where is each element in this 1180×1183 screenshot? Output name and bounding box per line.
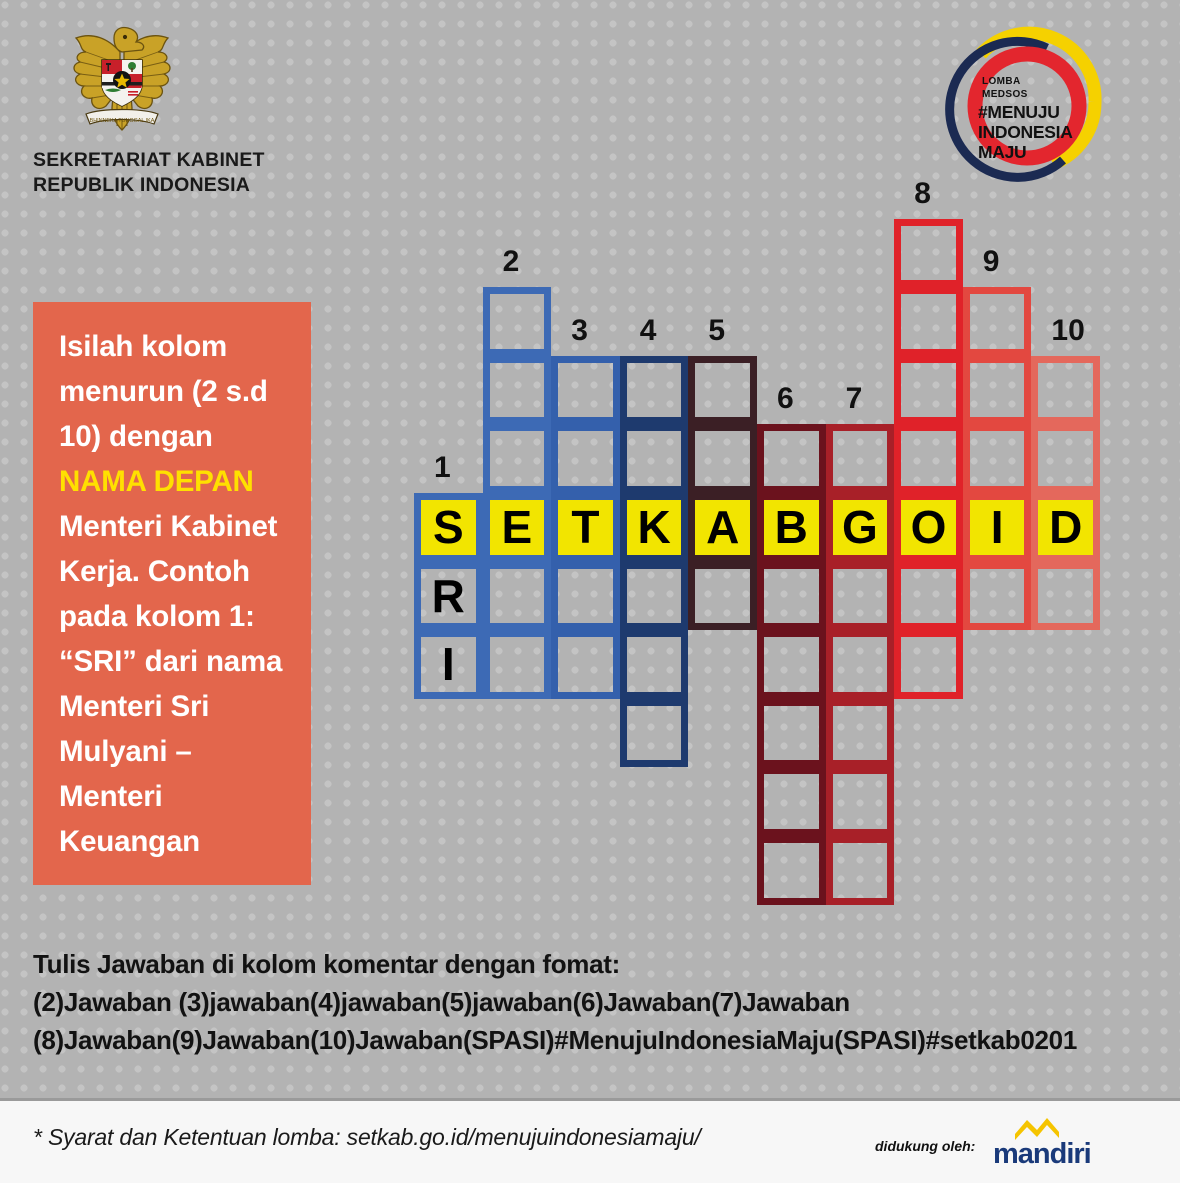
empty-cell-10-1[interactable]: [1031, 356, 1100, 425]
across-cell-9: I: [963, 493, 1032, 562]
clue-number-10: 10: [1051, 314, 1084, 348]
answer-cell-1-2: R: [414, 562, 483, 631]
empty-cell-8-3[interactable]: [894, 356, 963, 425]
mandiri-wordmark: mandiri: [993, 1138, 1091, 1171]
poster-canvas: BHINNEKA TUNGGAL IKA SEKRETARIAT KABINET…: [0, 0, 1180, 1183]
clue-number-1: 1: [434, 451, 451, 485]
clue-number-9: 9: [983, 245, 1000, 279]
empty-cell-6-7[interactable]: [757, 836, 826, 905]
across-cell-2: E: [483, 493, 552, 562]
across-cell-5: A: [688, 493, 757, 562]
empty-cell-7-7[interactable]: [826, 836, 895, 905]
crossword-grid[interactable]: 1SRI2E3T4K5A6B7G8O9I10D: [0, 0, 1180, 1000]
empty-cell-2-5[interactable]: [483, 562, 552, 631]
empty-cell-8-6[interactable]: [894, 562, 963, 631]
empty-cell-5-4[interactable]: [688, 562, 757, 631]
across-cell-1: S: [414, 493, 483, 562]
empty-cell-10-4[interactable]: [1031, 562, 1100, 631]
answer-format-instructions: Tulis Jawaban di kolom komentar dengan f…: [33, 945, 1073, 1059]
empty-cell-3-2[interactable]: [551, 424, 620, 493]
supported-by-label: didukung oleh:: [875, 1138, 975, 1154]
clue-number-3: 3: [571, 314, 588, 348]
across-cell-3: T: [551, 493, 620, 562]
across-cell-8: O: [894, 493, 963, 562]
empty-cell-7-5[interactable]: [826, 699, 895, 768]
empty-cell-2-3[interactable]: [483, 424, 552, 493]
clue-number-8: 8: [914, 177, 931, 211]
empty-cell-3-5[interactable]: [551, 630, 620, 699]
empty-cell-6-6[interactable]: [757, 767, 826, 836]
empty-cell-2-1[interactable]: [483, 287, 552, 356]
empty-cell-10-2[interactable]: [1031, 424, 1100, 493]
empty-cell-8-1[interactable]: [894, 219, 963, 288]
empty-cell-4-5[interactable]: [620, 630, 689, 699]
empty-cell-8-7[interactable]: [894, 630, 963, 699]
empty-cell-9-3[interactable]: [963, 424, 1032, 493]
empty-cell-7-1[interactable]: [826, 424, 895, 493]
answer-format-line-2: (2)Jawaban (3)jawaban(4)jawaban(5)jawaba…: [33, 983, 1073, 1021]
empty-cell-3-1[interactable]: [551, 356, 620, 425]
empty-cell-2-6[interactable]: [483, 630, 552, 699]
footer-bar: * Syarat dan Ketentuan lomba: setkab.go.…: [0, 1098, 1180, 1183]
empty-cell-4-1[interactable]: [620, 356, 689, 425]
clue-number-5: 5: [708, 314, 725, 348]
empty-cell-9-1[interactable]: [963, 287, 1032, 356]
empty-cell-8-2[interactable]: [894, 287, 963, 356]
answer-cell-1-3: I: [414, 630, 483, 699]
clue-number-4: 4: [640, 314, 657, 348]
empty-cell-4-6[interactable]: [620, 699, 689, 768]
across-cell-7: G: [826, 493, 895, 562]
footer-divider: [0, 1098, 1180, 1101]
empty-cell-7-4[interactable]: [826, 630, 895, 699]
empty-cell-9-5[interactable]: [963, 562, 1032, 631]
empty-cell-6-3[interactable]: [757, 562, 826, 631]
across-cell-4: K: [620, 493, 689, 562]
clue-number-2: 2: [503, 245, 520, 279]
empty-cell-5-1[interactable]: [688, 356, 757, 425]
across-cell-6: B: [757, 493, 826, 562]
clue-number-6: 6: [777, 382, 794, 416]
empty-cell-3-4[interactable]: [551, 562, 620, 631]
across-cell-10: D: [1031, 493, 1100, 562]
answer-format-line-3: (8)Jawaban(9)Jawaban(10)Jawaban(SPASI)#M…: [33, 1021, 1073, 1059]
clue-number-7: 7: [846, 382, 863, 416]
empty-cell-7-6[interactable]: [826, 767, 895, 836]
empty-cell-8-4[interactable]: [894, 424, 963, 493]
empty-cell-4-4[interactable]: [620, 562, 689, 631]
terms-and-conditions-note[interactable]: * Syarat dan Ketentuan lomba: setkab.go.…: [33, 1124, 701, 1151]
mandiri-logo-icon: mandiri: [993, 1116, 1113, 1168]
empty-cell-2-2[interactable]: [483, 356, 552, 425]
empty-cell-6-1[interactable]: [757, 424, 826, 493]
empty-cell-7-3[interactable]: [826, 562, 895, 631]
empty-cell-5-2[interactable]: [688, 424, 757, 493]
answer-format-line-1: Tulis Jawaban di kolom komentar dengan f…: [33, 945, 1073, 983]
empty-cell-9-2[interactable]: [963, 356, 1032, 425]
empty-cell-6-5[interactable]: [757, 699, 826, 768]
empty-cell-4-2[interactable]: [620, 424, 689, 493]
empty-cell-6-4[interactable]: [757, 630, 826, 699]
